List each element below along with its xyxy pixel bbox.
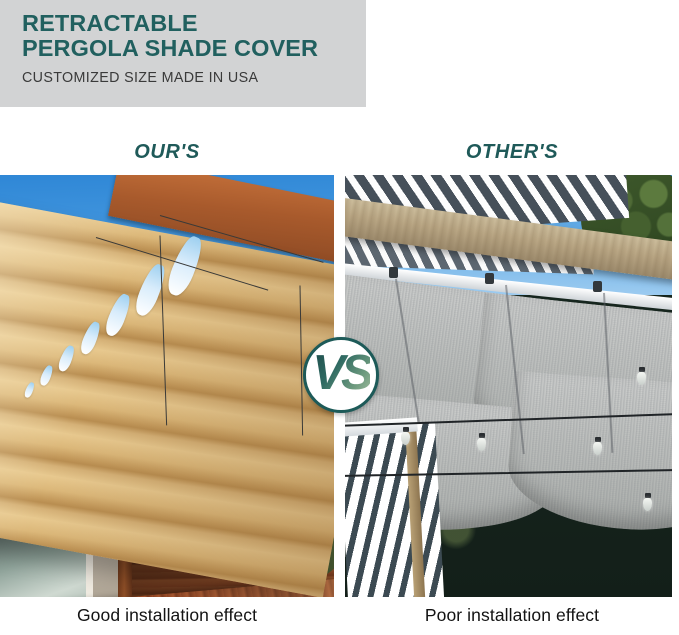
column-title-ours: OUR'S [0, 141, 334, 164]
versus-label: VS [312, 349, 369, 401]
bulb-glass [593, 442, 602, 455]
canopy-shading [0, 195, 334, 597]
photo-good-installation [0, 175, 334, 597]
headline-line-1: RETRACTABLE [22, 10, 198, 36]
photo-poor-installation [345, 175, 672, 597]
string-light-bulb [477, 433, 486, 451]
column-title-others: OTHER'S [345, 141, 679, 164]
bulb-glass [401, 432, 410, 445]
string-light-bulb [643, 493, 652, 511]
string-light-bulb [593, 437, 602, 455]
caption-good-installation: Good installation effect [0, 605, 334, 626]
bulb-glass [643, 498, 652, 511]
string-light-bulb [637, 367, 646, 385]
string-light-bulb [401, 427, 410, 445]
mesh-clip [593, 281, 602, 292]
mesh-clip [485, 273, 494, 284]
mesh-clip [389, 267, 398, 278]
caption-poor-installation: Poor installation effect [345, 605, 679, 626]
bulb-glass [637, 372, 646, 385]
page-title: RETRACTABLE PERGOLA SHADE COVER [22, 11, 366, 61]
louvered-railing [345, 422, 444, 597]
header-banner: RETRACTABLE PERGOLA SHADE COVER CUSTOMIZ… [0, 0, 366, 107]
bulb-glass [477, 438, 486, 451]
header-subtitle: CUSTOMIZED SIZE MADE IN USA [22, 70, 366, 86]
headline-line-2: PERGOLA SHADE COVER [22, 36, 366, 61]
versus-badge: VS [303, 337, 379, 413]
